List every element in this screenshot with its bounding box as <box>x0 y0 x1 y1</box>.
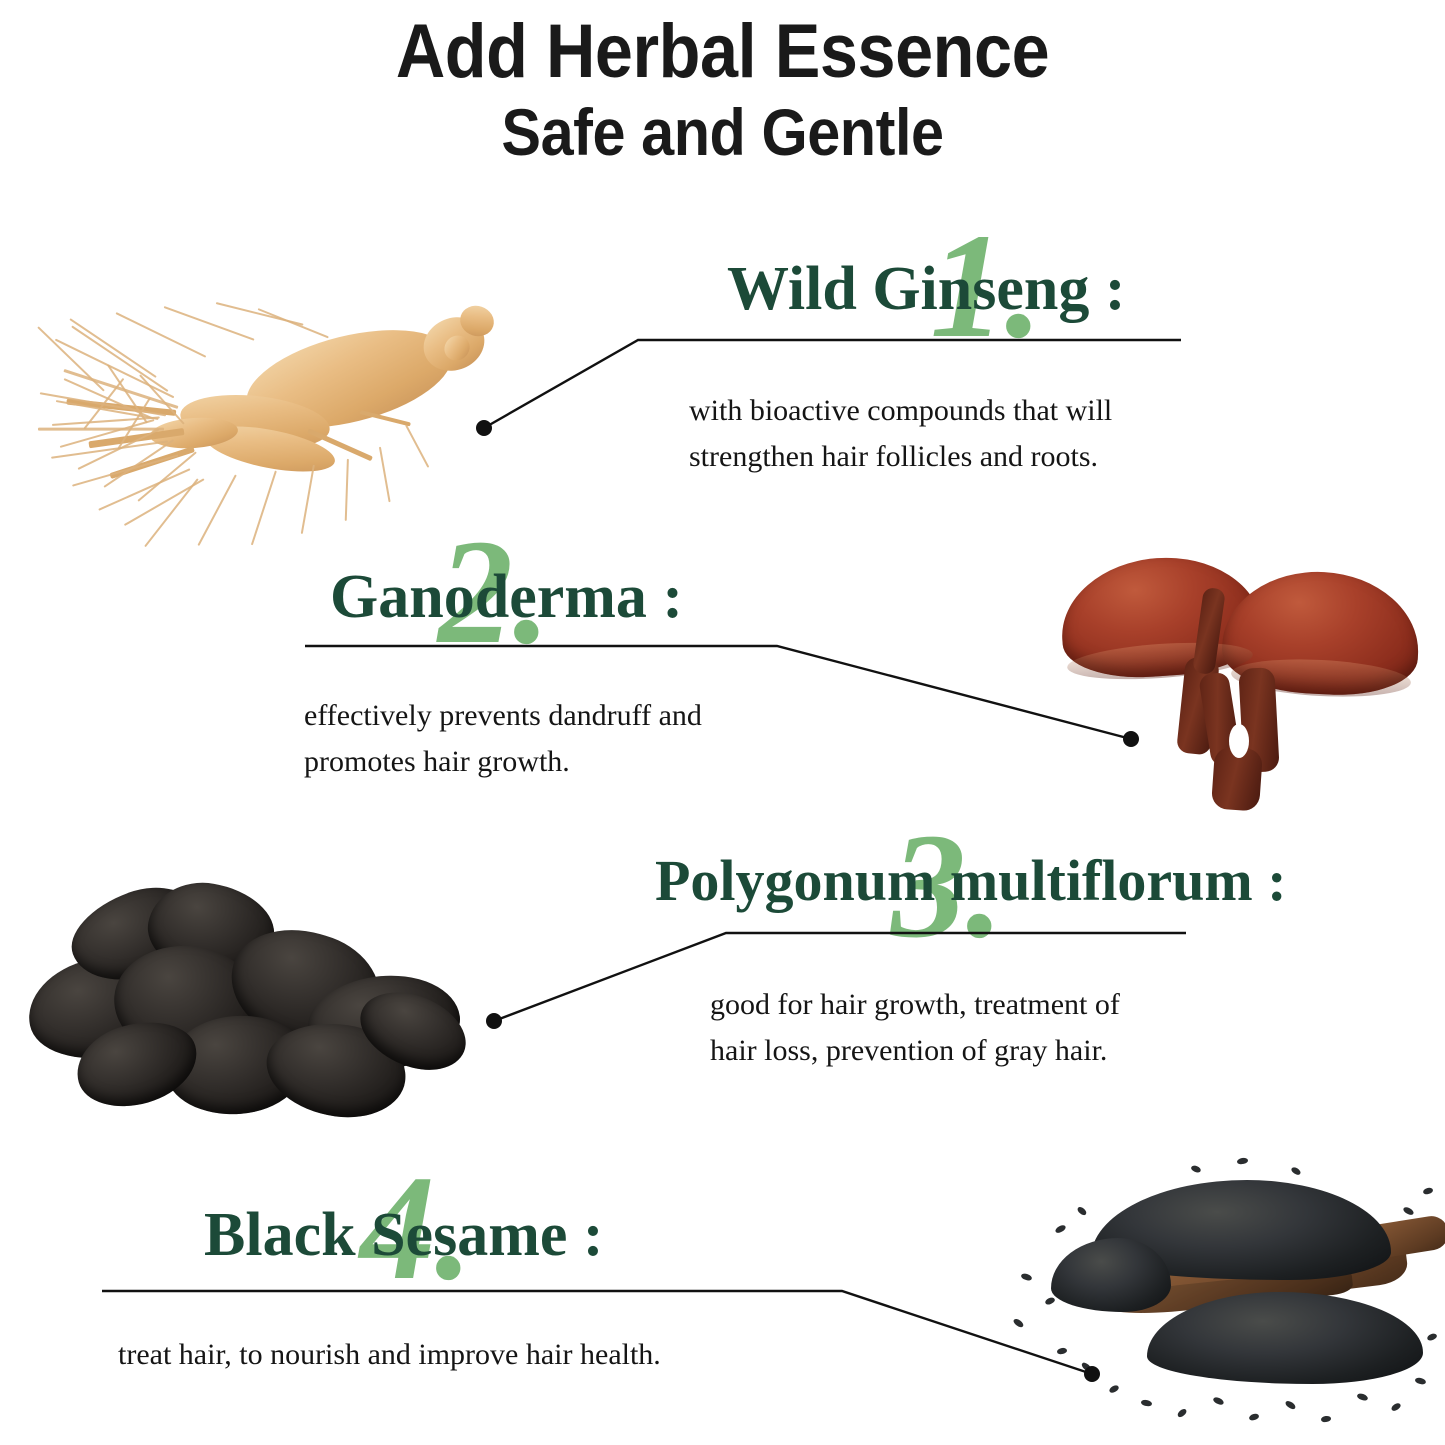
section-body-4-line-1: treat hair, to nourish and improve hair … <box>118 1332 878 1378</box>
section-heading-1: Wild Ginseng : <box>727 258 1126 320</box>
title-line-1: Add Herbal Essence <box>72 14 1373 90</box>
infographic-canvas: Add Herbal Essence Safe and Gentle 1. Wi… <box>0 0 1445 1445</box>
heading-wrap-3: 3. Polygonum multiflorum : <box>655 852 1287 910</box>
section-body-3-line-2: hair loss, prevention of gray hair. <box>710 1028 1240 1074</box>
page-title: Add Herbal Essence Safe and Gentle <box>0 14 1445 165</box>
section-body-3: good for hair growth, treatment of hair … <box>710 982 1240 1073</box>
black-sesame-image <box>985 1152 1445 1442</box>
section-body-4: treat hair, to nourish and improve hair … <box>118 1332 878 1378</box>
section-body-1-line-1: with bioactive compounds that will <box>689 388 1219 434</box>
section-body-2-line-2: promotes hair growth. <box>304 739 834 785</box>
section-heading-4: Black Sesame : <box>204 1204 604 1266</box>
section-body-1-line-2: strengthen hair follicles and roots. <box>689 434 1219 480</box>
polygonum-image <box>18 858 488 1143</box>
section-polygonum: 3. Polygonum multiflorum : <box>655 852 1287 910</box>
section-wild-ginseng: 1. Wild Ginseng : <box>727 258 1126 320</box>
section-black-sesame: 4. Black Sesame : <box>204 1204 604 1266</box>
section-heading-3: Polygonum multiflorum : <box>655 852 1287 910</box>
section-ganoderma: 2. Ganoderma : <box>330 566 683 628</box>
section-body-3-line-1: good for hair growth, treatment of <box>710 982 1240 1028</box>
ganoderma-image <box>1055 548 1425 818</box>
wild-ginseng-image <box>8 278 528 538</box>
heading-wrap-2: 2. Ganoderma : <box>330 566 683 628</box>
section-heading-2: Ganoderma : <box>330 566 683 628</box>
section-body-1: with bioactive compounds that will stren… <box>689 388 1219 479</box>
section-body-2: effectively prevents dandruff and promot… <box>304 693 834 784</box>
heading-wrap-1: 1. Wild Ginseng : <box>727 258 1126 320</box>
connector-dot-3 <box>486 1013 502 1029</box>
section-body-2-line-1: effectively prevents dandruff and <box>304 693 834 739</box>
title-line-2: Safe and Gentle <box>72 99 1373 165</box>
heading-wrap-4: 4. Black Sesame : <box>204 1204 604 1266</box>
